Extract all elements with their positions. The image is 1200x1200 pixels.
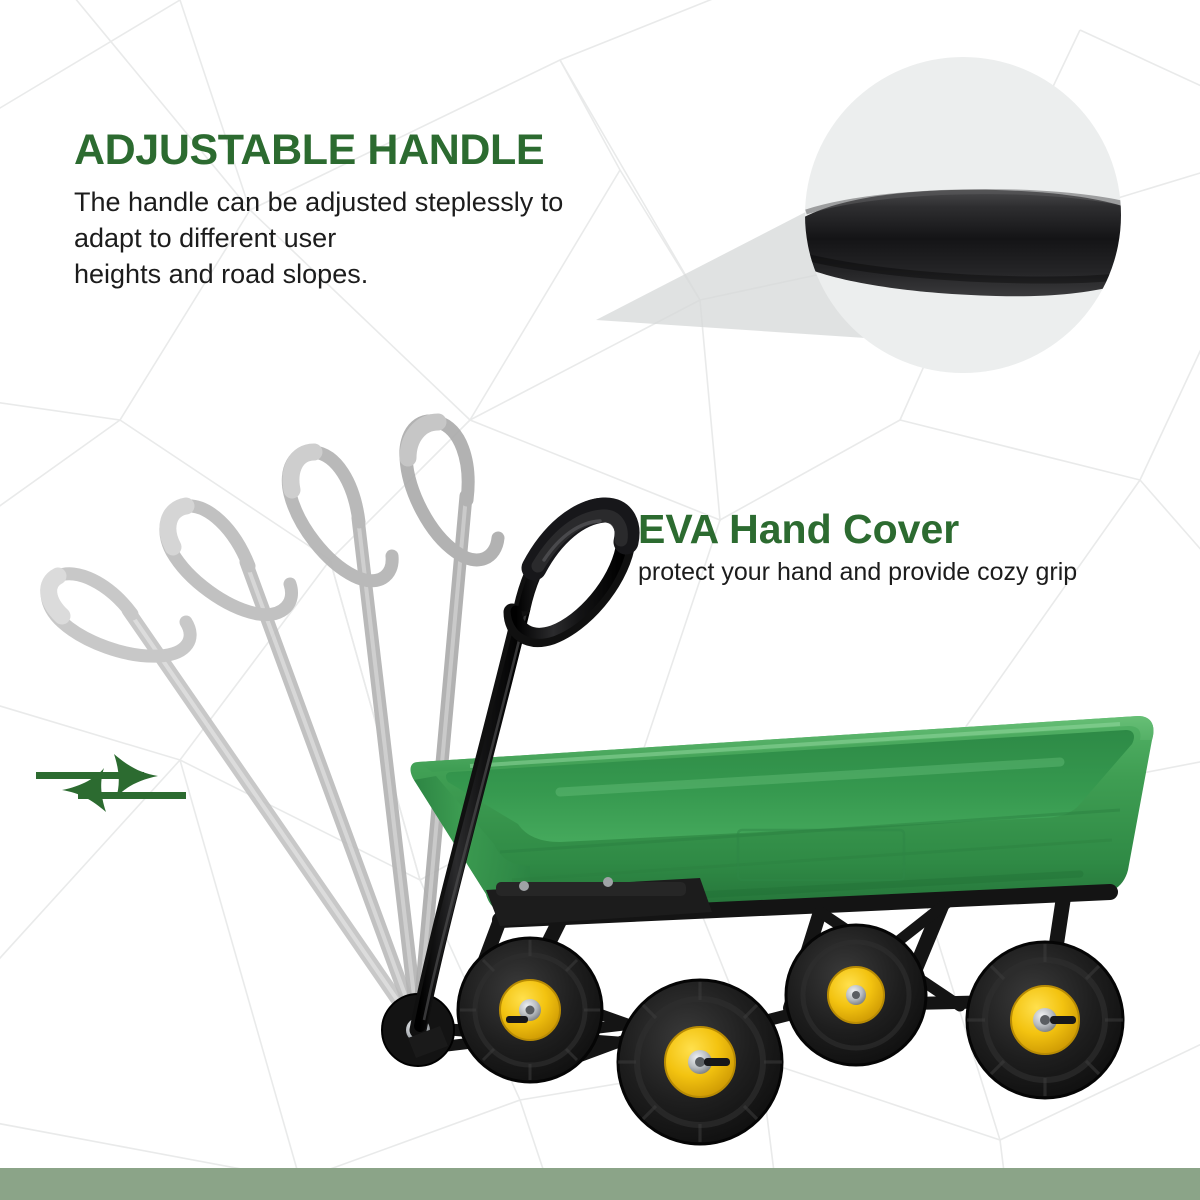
adjustable-handle-description: The handle can be adjusted steplessly to…	[74, 185, 654, 293]
eva-hand-cover-text-block: EVA Hand Cover protect your hand and pro…	[638, 508, 1196, 588]
eva-hand-cover-description: protect your hand and provide cozy grip	[638, 557, 1196, 588]
bottom-accent-band	[0, 1168, 1200, 1200]
infographic-page: ADJUSTABLE HANDLE The handle can be adju…	[0, 0, 1200, 1200]
double-arrow-icon	[28, 742, 188, 826]
rear-right-wheel	[967, 942, 1123, 1098]
adjustable-handle-text-block: ADJUSTABLE HANDLE The handle can be adju…	[74, 128, 654, 293]
page-title: ADJUSTABLE HANDLE	[74, 128, 654, 173]
eva-hand-cover-title: EVA Hand Cover	[638, 508, 1196, 551]
rear-left-wheel	[786, 925, 926, 1065]
front-left-wheel	[458, 938, 602, 1082]
front-right-wheel	[618, 980, 782, 1144]
